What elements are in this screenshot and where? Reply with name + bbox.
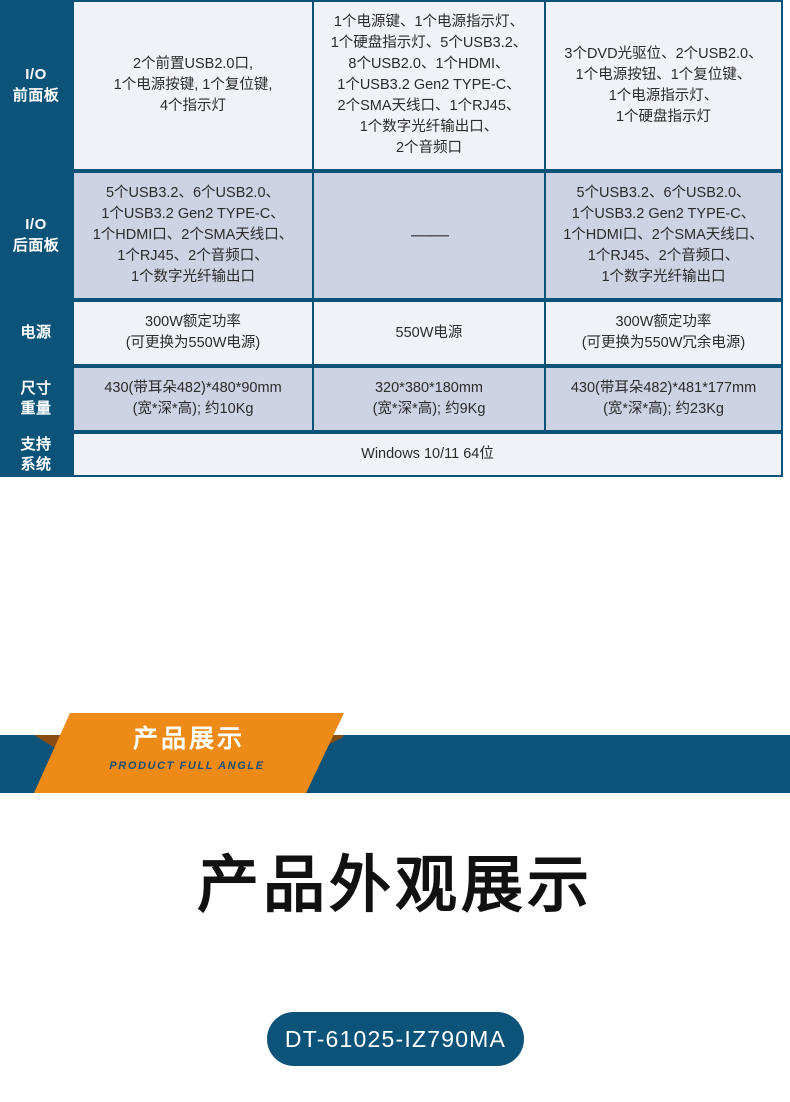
cell-line: 1个数字光纤输出口 [563,267,764,288]
row-label-io-rear: I/O 后面板 [0,171,72,300]
cell-text: 430(带耳朵482)*480*90mm (宽*深*高); 约10Kg [104,378,281,420]
cell-text: 3个DVD光驱位、2个USB2.0、 1个电源按钮、1个复位键、 1个电源指示灯… [564,44,762,128]
table-cell: 1个电源键、1个电源指示灯、 1个硬盘指示灯、5个USB3.2、 8个USB2.… [314,0,546,171]
row-label-line: 系统 [20,455,51,475]
cell-line: 1个USB3.2 Gen2 TYPE-C、 [93,204,294,225]
cell-line: 300W额定功率 [126,312,261,333]
cell-text: 5个USB3.2、6个USB2.0、 1个USB3.2 Gen2 TYPE-C、… [93,183,294,288]
table-cell: 2个前置USB2.0口, 1个电源按键, 1个复位键, 4个指示灯 [72,0,314,171]
cell-text: —— [411,221,447,250]
section-banner-title: 产品展示 [34,727,344,752]
cell-line: 1个硬盘指示灯 [564,107,762,128]
model-number-badge: DT-61025-IZ790MA [267,1012,524,1066]
cell-line: 5个USB3.2、6个USB2.0、 [563,183,764,204]
table-row: 尺寸 重量 430(带耳朵482)*480*90mm (宽*深*高); 约10K… [0,366,783,432]
cell-line: 1个RJ45、2个音频口、 [93,246,294,267]
table-cell: 300W额定功率 (可更换为550W冗余电源) [546,300,783,366]
cell-line: 1个USB3.2 Gen2 TYPE-C、 [563,204,764,225]
cell-line-dash: —— [411,221,447,250]
cell-line: 550W电源 [396,323,463,344]
cell-line: 1个数字光纤输出口、 [331,117,528,138]
cell-line: 4个指示灯 [114,96,273,117]
cell-text: 300W额定功率 (可更换为550W冗余电源) [582,312,746,354]
cell-line: 1个HDMI口、2个SMA天线口、 [93,225,294,246]
cell-line: (宽*深*高); 约9Kg [373,399,486,420]
cell-line: 2个SMA天线口、1个RJ45、 [331,96,528,117]
cell-text: 550W电源 [396,323,463,344]
cell-line: 430(带耳朵482)*481*177mm [571,378,756,399]
cell-line: 3个DVD光驱位、2个USB2.0、 [564,44,762,65]
cell-line: 300W额定功率 [582,312,746,333]
row-cells: 2个前置USB2.0口, 1个电源按键, 1个复位键, 4个指示灯 1个电源键、… [72,0,783,171]
row-label-supported-os: 支持 系统 [0,432,72,477]
table-cell-empty: —— [314,171,546,300]
cell-line: 5个USB3.2、6个USB2.0、 [93,183,294,204]
row-label-line: 尺寸 [20,379,51,399]
table-cell: 5个USB3.2、6个USB2.0、 1个USB3.2 Gen2 TYPE-C、… [546,171,783,300]
cell-line: 1个电源按钮、1个复位键、 [564,65,762,86]
cell-text: 1个电源键、1个电源指示灯、 1个硬盘指示灯、5个USB3.2、 8个USB2.… [331,12,528,159]
page-title: 产品外观展示 [0,855,790,917]
table-cell: 3个DVD光驱位、2个USB2.0、 1个电源按钮、1个复位键、 1个电源指示灯… [546,0,783,171]
cell-line: 1个电源指示灯、 [564,86,762,107]
cell-text: 2个前置USB2.0口, 1个电源按键, 1个复位键, 4个指示灯 [114,54,273,117]
cell-text: 5个USB3.2、6个USB2.0、 1个USB3.2 Gen2 TYPE-C、… [563,183,764,288]
row-label-io-front: I/O 前面板 [0,0,72,171]
cell-line: 1个USB3.2 Gen2 TYPE-C、 [331,75,528,96]
table-cell: 300W额定功率 (可更换为550W电源) [72,300,314,366]
row-label-line: 前面板 [13,86,60,106]
row-label-line: 后面板 [13,236,60,256]
row-cells: 300W额定功率 (可更换为550W电源) 550W电源 300W额定功率 (可… [72,300,783,366]
cell-line: (宽*深*高); 约23Kg [571,399,756,420]
table-cell: 550W电源 [314,300,546,366]
row-cells: Windows 10/11 64位 [72,432,783,477]
cell-line: 2个音频口 [331,138,528,159]
cell-line: Windows 10/11 64位 [361,444,494,465]
section-banner: 产品展示 PRODUCT FULL ANGLE [0,713,790,793]
cell-line: 1个RJ45、2个音频口、 [563,246,764,267]
row-label-line: 重量 [20,399,51,419]
cell-text: 300W额定功率 (可更换为550W电源) [126,312,261,354]
cell-line: 1个硬盘指示灯、5个USB3.2、 [331,33,528,54]
row-cells: 5个USB3.2、6个USB2.0、 1个USB3.2 Gen2 TYPE-C、… [72,171,783,300]
cell-line: 430(带耳朵482)*480*90mm [104,378,281,399]
table-cell: 5个USB3.2、6个USB2.0、 1个USB3.2 Gen2 TYPE-C、… [72,171,314,300]
cell-line: 1个电源按键, 1个复位键, [114,75,273,96]
cell-line: 1个HDMI口、2个SMA天线口、 [563,225,764,246]
cell-line: 2个前置USB2.0口, [114,54,273,75]
product-spec-page: I/O 前面板 2个前置USB2.0口, 1个电源按键, 1个复位键, 4个指示… [0,0,790,1102]
table-row: I/O 后面板 5个USB3.2、6个USB2.0、 1个USB3.2 Gen2… [0,171,783,300]
table-cell: 430(带耳朵482)*480*90mm (宽*深*高); 约10Kg [72,366,314,432]
row-label-line: I/O [25,65,47,85]
row-cells: 430(带耳朵482)*480*90mm (宽*深*高); 约10Kg 320*… [72,366,783,432]
cell-line: (可更换为550W电源) [126,333,261,354]
cell-line: (可更换为550W冗余电源) [582,333,746,354]
cell-line: 1个数字光纤输出口 [93,267,294,288]
table-cell-merged: Windows 10/11 64位 [72,432,783,477]
cell-line: (宽*深*高); 约10Kg [104,399,281,420]
row-label-line: I/O [25,215,47,235]
row-label-size-weight: 尺寸 重量 [0,366,72,432]
table-row: 电源 300W额定功率 (可更换为550W电源) 550W电源 300W额定 [0,300,783,366]
section-banner-subtitle: PRODUCT FULL ANGLE [34,761,340,772]
cell-text: 320*380*180mm (宽*深*高); 约9Kg [373,378,486,420]
row-label-line: 支持 [20,435,51,455]
table-cell: 430(带耳朵482)*481*177mm (宽*深*高); 约23Kg [546,366,783,432]
table-cell: 320*380*180mm (宽*深*高); 约9Kg [314,366,546,432]
cell-line: 320*380*180mm [373,378,486,399]
row-label-line: 电源 [20,323,51,343]
specification-table: I/O 前面板 2个前置USB2.0口, 1个电源按键, 1个复位键, 4个指示… [0,0,783,477]
row-label-power: 电源 [0,300,72,366]
cell-text: 430(带耳朵482)*481*177mm (宽*深*高); 约23Kg [571,378,756,420]
cell-line: 1个电源键、1个电源指示灯、 [331,12,528,33]
table-row: I/O 前面板 2个前置USB2.0口, 1个电源按键, 1个复位键, 4个指示… [0,0,783,171]
cell-line: 8个USB2.0、1个HDMI、 [331,54,528,75]
table-row: 支持 系统 Windows 10/11 64位 [0,432,783,477]
cell-text: Windows 10/11 64位 [361,444,494,465]
